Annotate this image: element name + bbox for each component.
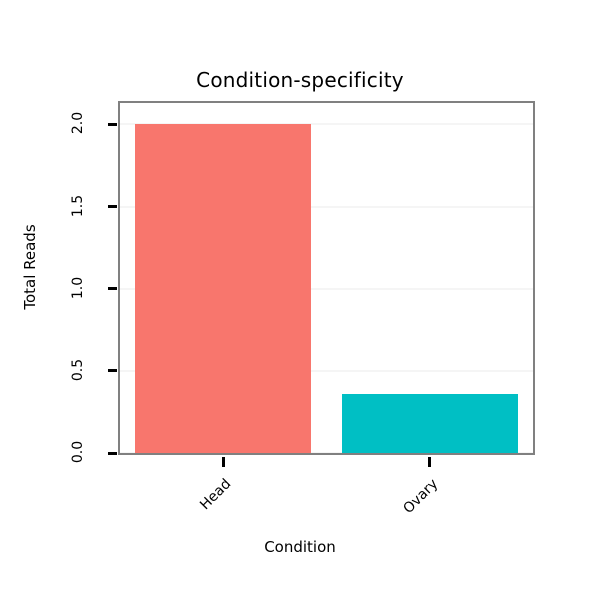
y-tick-mark <box>108 452 117 455</box>
y-tick-label: 0.0 <box>70 432 86 472</box>
bar-ovary <box>342 394 518 453</box>
chart-title: Condition-specificity <box>0 68 600 92</box>
y-tick-mark <box>108 369 117 372</box>
y-tick-label: 1.0 <box>70 268 86 308</box>
plot-area <box>120 103 533 453</box>
x-tick-mark <box>428 457 431 467</box>
y-tick-label: 2.0 <box>70 103 86 143</box>
y-tick-mark <box>108 287 117 290</box>
x-axis-title: Condition <box>0 538 600 556</box>
y-tick-mark <box>108 205 117 208</box>
x-tick-mark <box>222 457 225 467</box>
y-tick-label: 1.5 <box>70 186 86 226</box>
y-tick-label: 0.5 <box>70 350 86 390</box>
plot-panel <box>118 101 535 455</box>
bar-chart-figure: Condition-specificity Total Reads Condit… <box>0 0 600 600</box>
y-axis-title: Total Reads <box>21 207 39 327</box>
bar-head <box>135 124 311 453</box>
y-tick-mark <box>108 123 117 126</box>
